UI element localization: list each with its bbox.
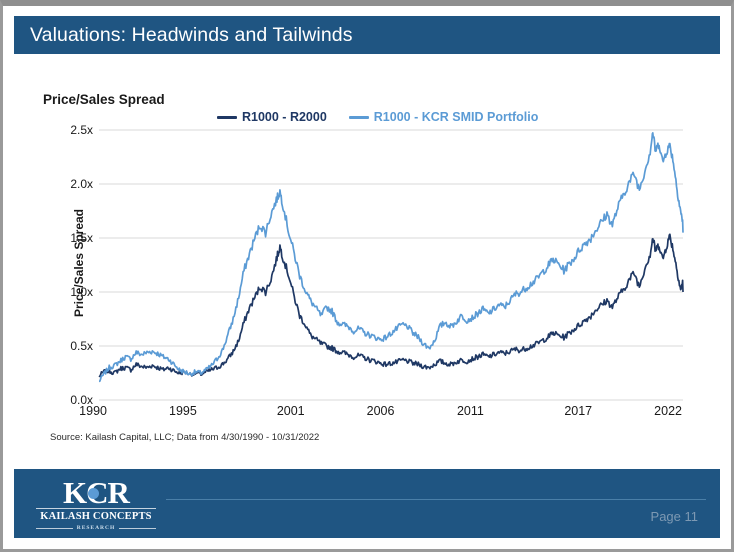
kcr-logo-research-label: RESEARCH [36,525,156,531]
y-axis-ticks: 0.0x0.5x1.0x1.5x2.0x2.5x [49,118,93,410]
x-tick-label: 1990 [79,404,107,418]
y-tick-label: 0.5x [70,339,93,353]
x-tick-label: 2022 [654,404,682,418]
x-tick-label: 2017 [564,404,592,418]
chart-legend: R1000 - R2000 R1000 - KCR SMID Portfolio [217,110,538,124]
kcr-logo: KCR KAILASH CONCEPTS RESEARCH [36,477,156,531]
kcr-logo-research-text: RESEARCH [77,525,116,531]
kcr-logo-main: KCR [36,477,156,509]
x-tick-label: 2011 [457,404,484,418]
legend-item-r1000-kcr-smid[interactable]: R1000 - KCR SMID Portfolio [349,110,539,124]
slide-canvas: Valuations: Headwinds and Tailwinds Pric… [0,0,734,552]
x-axis-ticks: 1990199520012006201120172022 [99,404,683,424]
page-title: Valuations: Headwinds and Tailwinds [14,24,353,47]
series-line-r1000-kcr-smid [99,133,683,381]
chart-plot-area [99,130,683,400]
chart-source-note: Source: Kailash Capital, LLC; Data from … [50,432,319,443]
kcr-logo-dot-icon [88,488,99,499]
slide-footer-bar: KCR KAILASH CONCEPTS RESEARCH Page 11 [14,469,720,538]
x-tick-label: 2006 [367,404,395,418]
y-tick-label: 1.5x [70,231,93,245]
kcr-logo-subtitle: KAILASH CONCEPTS [36,508,156,523]
series-line-r1000-r2000 [99,234,683,376]
legend-swatch-light [349,116,369,119]
chart-title: Price/Sales Spread [43,92,165,107]
x-tick-label: 2001 [277,404,305,418]
y-tick-label: 2.0x [70,177,93,191]
legend-swatch-dark [217,116,237,119]
page-number: Page 11 [651,509,698,524]
x-tick-label: 1995 [169,404,197,418]
y-tick-label: 1.0x [70,285,93,299]
y-tick-label: 2.5x [70,123,93,137]
legend-item-r1000-r2000[interactable]: R1000 - R2000 [217,110,327,124]
legend-label-r1000-kcr-smid: R1000 - KCR SMID Portfolio [374,110,539,124]
slide-header-bar: Valuations: Headwinds and Tailwinds [14,16,720,54]
footer-divider [166,499,706,500]
chart-svg [99,130,683,400]
legend-label-r1000-r2000: R1000 - R2000 [242,110,327,124]
